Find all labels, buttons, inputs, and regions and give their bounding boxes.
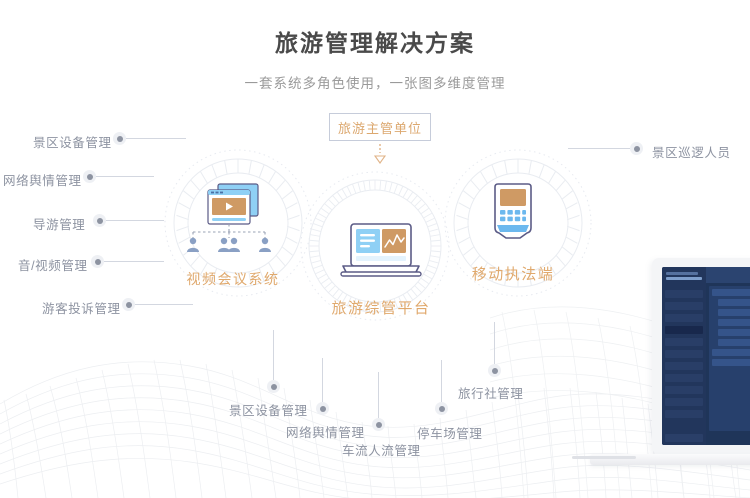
bottom-dot-2[interactable]	[372, 418, 385, 431]
mock-menu-item-active[interactable]	[665, 326, 703, 334]
mock-tree-row[interactable]	[718, 299, 750, 306]
mock-sidebar	[662, 267, 706, 445]
left-dot-3[interactable]	[91, 255, 104, 268]
bottom-line-1	[322, 358, 323, 402]
mock-menu-item[interactable]	[665, 314, 703, 322]
solution-diagram-canvas: 旅游管理解决方案 一套系统多角色使用，一张图多维度管理 旅游主管单位	[0, 0, 750, 498]
mock-menu-item[interactable]	[665, 338, 703, 346]
bottom-dot-4[interactable]	[488, 364, 501, 377]
node-video-conference-label: 视频会议系统	[168, 269, 298, 289]
mock-tree-row[interactable]	[718, 339, 750, 346]
right-label-0[interactable]: 景区巡逻人员	[652, 142, 731, 161]
page-subtitle: 一套系统多角色使用，一张图多维度管理	[0, 58, 750, 92]
bottom-label-3[interactable]: 停车场管理	[417, 423, 483, 442]
background-wave-mesh	[0, 308, 750, 498]
bottom-label-2[interactable]: 车流人流管理	[342, 440, 421, 459]
left-label-0[interactable]: 景区设备管理	[33, 132, 112, 151]
laptop-body	[652, 258, 750, 454]
left-line-3	[104, 261, 164, 262]
node-mobile-enforcement-label: 移动执法端	[448, 263, 578, 284]
left-label-2[interactable]: 导游管理	[33, 214, 85, 233]
left-label-1[interactable]: 网络舆情管理	[3, 170, 82, 189]
mock-sidebar-footer	[665, 434, 703, 442]
mock-menu-item[interactable]	[665, 410, 703, 418]
bottom-label-4[interactable]: 旅行社管理	[458, 383, 524, 402]
bottom-line-4	[494, 322, 495, 364]
mock-tree-row[interactable]	[712, 349, 750, 356]
bottom-line-3	[441, 360, 442, 402]
laptop-screen	[662, 267, 750, 445]
mock-tree-row[interactable]	[718, 329, 750, 336]
authority-badge[interactable]: 旅游主管单位	[329, 113, 431, 141]
mock-tree-row[interactable]	[718, 319, 750, 326]
handheld-device-icon	[448, 180, 578, 250]
mock-menu-item[interactable]	[665, 374, 703, 382]
mock-menu-item[interactable]	[665, 362, 703, 370]
video-window-icon	[168, 180, 298, 256]
mock-menu-item[interactable]	[665, 398, 703, 406]
bottom-line-0	[273, 330, 274, 380]
bottom-label-1[interactable]: 网络舆情管理	[286, 422, 365, 441]
left-line-2	[106, 220, 164, 221]
bottom-dot-3[interactable]	[435, 402, 448, 415]
left-dot-4[interactable]	[122, 298, 135, 311]
left-label-3[interactable]: 音/视频管理	[18, 255, 88, 274]
left-dot-2[interactable]	[93, 214, 106, 227]
laptop-base-notch	[572, 456, 636, 459]
bottom-dot-1[interactable]	[316, 402, 329, 415]
header: 旅游管理解决方案 一套系统多角色使用，一张图多维度管理	[0, 0, 750, 92]
mock-tree-panel	[709, 286, 750, 431]
bottom-label-0[interactable]: 景区设备管理	[229, 400, 308, 419]
mock-tree-row[interactable]	[718, 309, 750, 316]
left-line-1	[96, 176, 154, 177]
bottom-line-2	[378, 372, 379, 418]
authority-badge-label: 旅游主管单位	[329, 113, 431, 141]
laptop-base	[590, 454, 750, 465]
node-tourism-platform[interactable]: 旅游综管平台	[313, 222, 449, 318]
left-line-4	[135, 304, 193, 305]
left-dot-0[interactable]	[113, 132, 126, 145]
mock-tree-row[interactable]	[712, 359, 750, 366]
left-label-4[interactable]: 游客投诉管理	[42, 298, 121, 317]
left-dot-1[interactable]	[83, 170, 96, 183]
laptop-dashboard-icon	[313, 222, 449, 284]
node-tourism-platform-label: 旅游综管平台	[313, 297, 449, 318]
mock-menu-item[interactable]	[665, 386, 703, 394]
downward-arrow-icon	[371, 144, 389, 166]
bottom-dot-0[interactable]	[267, 380, 280, 393]
right-line-0	[568, 148, 630, 149]
mock-brand-logo	[666, 272, 702, 285]
mock-tree-row[interactable]	[712, 289, 750, 296]
right-dot-0[interactable]	[630, 142, 643, 155]
left-line-0	[126, 138, 186, 139]
node-video-conference[interactable]: 视频会议系统	[168, 180, 298, 289]
mock-menu-item[interactable]	[665, 350, 703, 358]
mock-menu-item[interactable]	[665, 290, 703, 298]
mock-main-panel	[706, 267, 750, 445]
node-mobile-enforcement[interactable]: 移动执法端	[448, 180, 578, 284]
mock-menu-item[interactable]	[665, 302, 703, 310]
page-title: 旅游管理解决方案	[0, 0, 750, 58]
